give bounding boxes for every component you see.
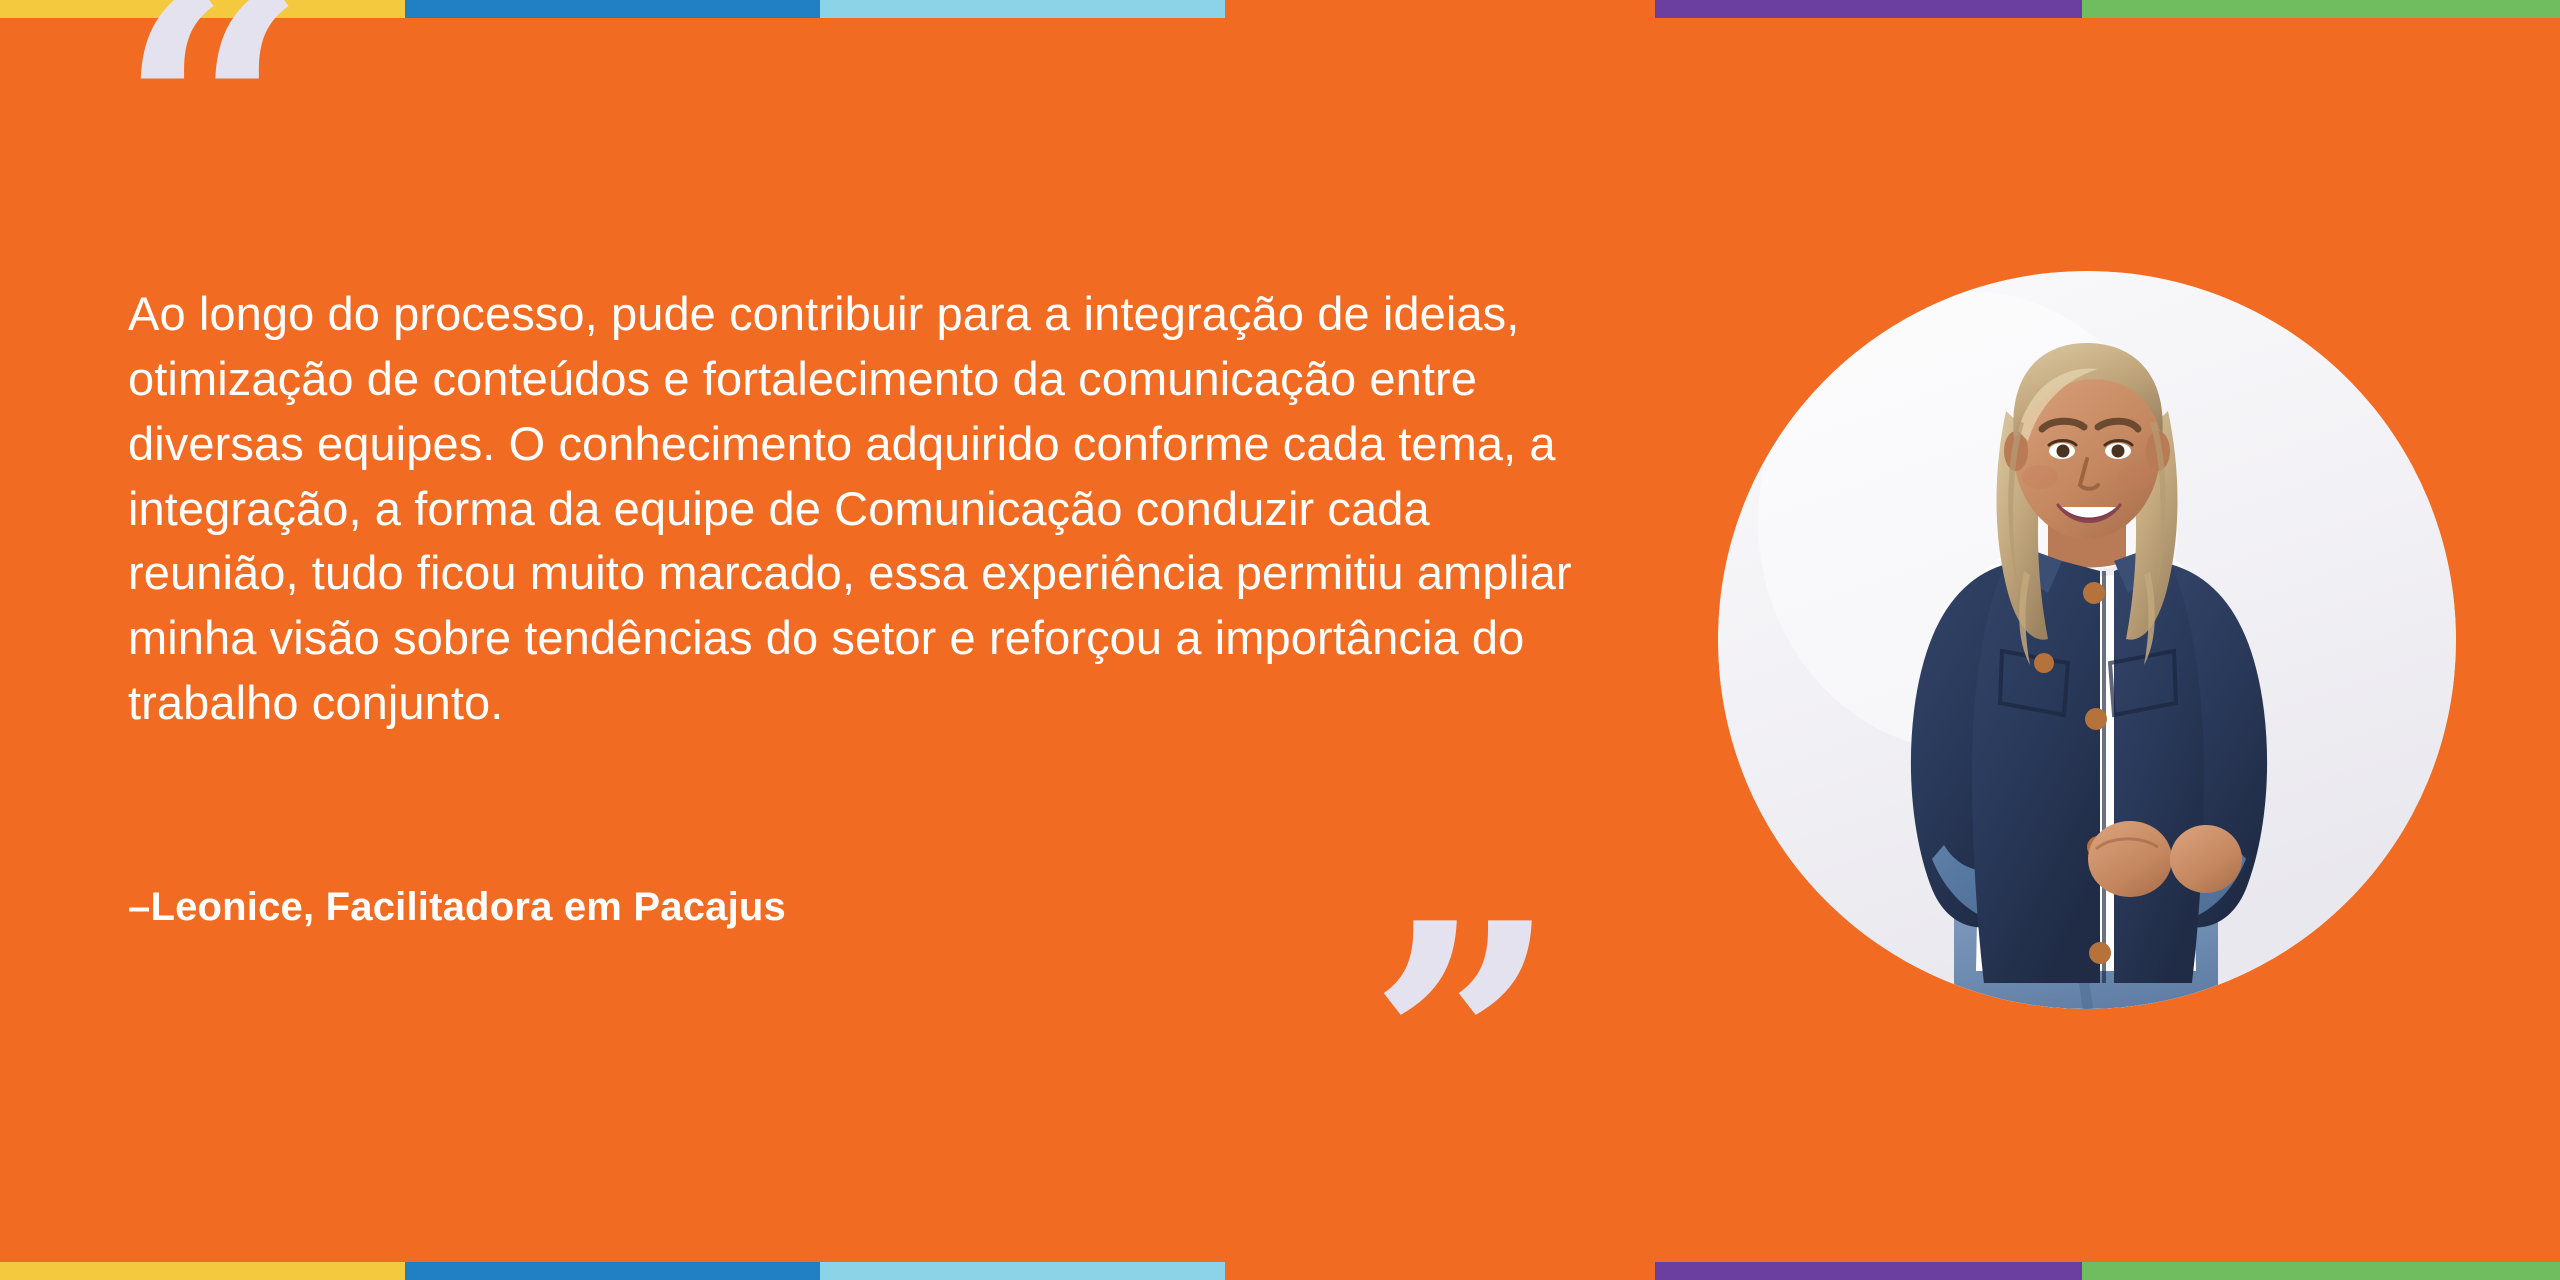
bottom-bar-yellow [0,1262,405,1280]
bottom-bar-purple [1655,1262,2082,1280]
top-bar-blue [405,0,820,18]
testimonial-attribution: –Leonice, Facilitadora em Pacajus [128,885,786,930]
top-bar-light-blue [820,0,1225,18]
bottom-bar-blue [405,1262,820,1280]
portrait-avatar [1718,271,2456,1009]
bottom-color-bar-strip [0,1262,2560,1280]
top-bar-green [2082,0,2560,18]
top-bar-purple [1655,0,2082,18]
testimonial-card: “ Ao longo do processo, pude contribuir … [0,0,2560,1280]
closing-quote-icon: ” [1368,880,1552,1210]
portrait-illustration [1718,271,2456,1009]
bottom-bar-green [2082,1262,2560,1280]
opening-quote-icon: “ [118,0,302,278]
testimonial-quote-text: Ao longo do processo, pude contribuir pa… [128,282,1598,736]
bottom-bar-light-blue [820,1262,1225,1280]
top-color-bar-strip [0,0,2560,18]
